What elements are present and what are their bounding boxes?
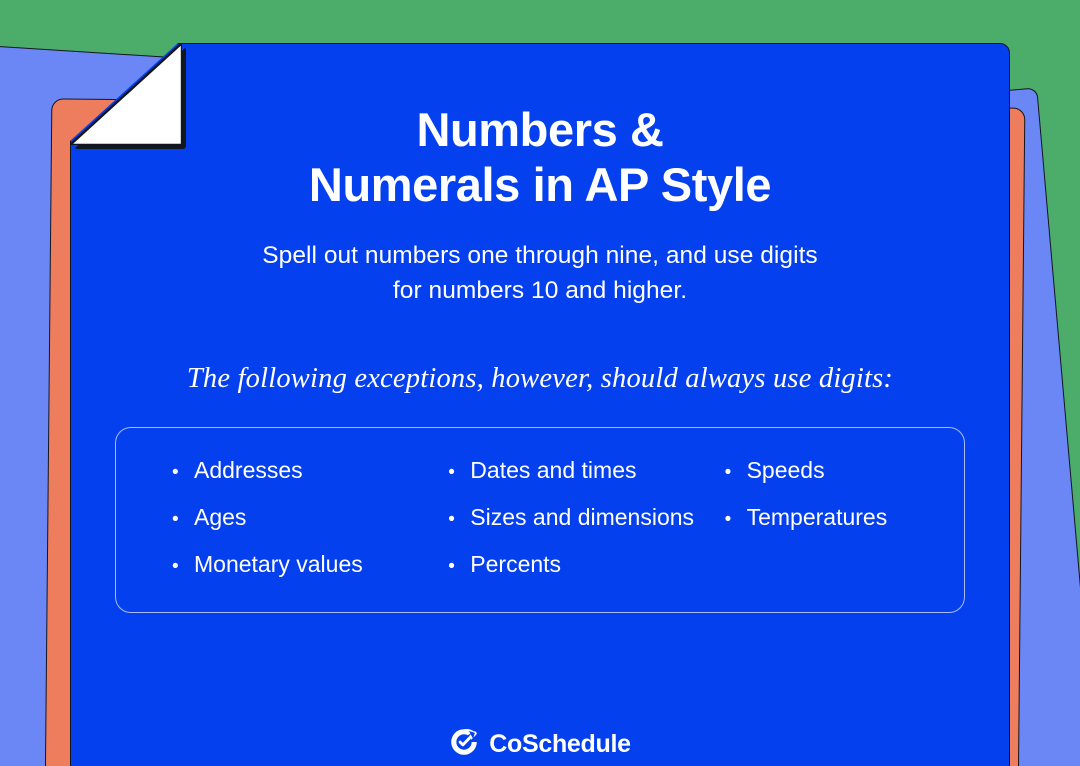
list-item-label: Speeds [747,454,825,487]
list-item: • Addresses [172,454,448,487]
bullet-dot-icon: • [172,557,194,576]
bullet-column-1: • Addresses • Ages • Monetary values [138,454,448,582]
exceptions-list-box: • Addresses • Ages • Monetary values • D… [115,427,965,613]
card-content: Numbers & Numerals in AP Style Spell out… [70,43,1010,766]
list-item: • Speeds [725,454,942,487]
list-item-label: Monetary values [194,548,363,581]
list-item-label: Percents [470,548,561,581]
page-title: Numbers & Numerals in AP Style [110,43,970,213]
brand-logo: CoSchedule [70,727,1010,762]
list-item: • Ages [172,501,448,534]
subtitle: Spell out numbers one through nine, and … [110,213,970,309]
list-item: • Dates and times [448,454,724,487]
bullet-dot-icon: • [448,510,470,529]
circle-check-icon [449,727,479,762]
subtitle-line-2: for numbers 10 and higher. [110,274,970,309]
title-line-1: Numbers & [110,103,970,158]
list-item: • Monetary values [172,548,448,581]
bullet-dot-icon: • [725,463,747,482]
bullet-dot-icon: • [172,510,194,529]
title-line-2: Numerals in AP Style [110,158,970,213]
bullet-dot-icon: • [725,510,747,529]
list-item-label: Temperatures [747,501,888,534]
list-item: • Temperatures [725,501,942,534]
bullet-column-2: • Dates and times • Sizes and dimensions… [448,454,724,582]
subtitle-line-1: Spell out numbers one through nine, and … [110,239,970,274]
bullet-dot-icon: • [172,463,194,482]
list-item: • Sizes and dimensions [448,501,724,534]
list-item-label: Dates and times [470,454,636,487]
list-item-label: Sizes and dimensions [470,501,694,534]
list-item-label: Ages [194,501,246,534]
list-item: • Percents [448,548,724,581]
bullet-column-3: • Speeds • Temperatures [725,454,942,582]
brand-name: CoSchedule [489,730,630,759]
infographic-canvas: Numbers & Numerals in AP Style Spell out… [0,0,1080,766]
exceptions-heading: The following exceptions, however, shoul… [110,309,970,395]
bullet-dot-icon: • [448,557,470,576]
bullet-dot-icon: • [448,463,470,482]
list-item-label: Addresses [194,454,303,487]
